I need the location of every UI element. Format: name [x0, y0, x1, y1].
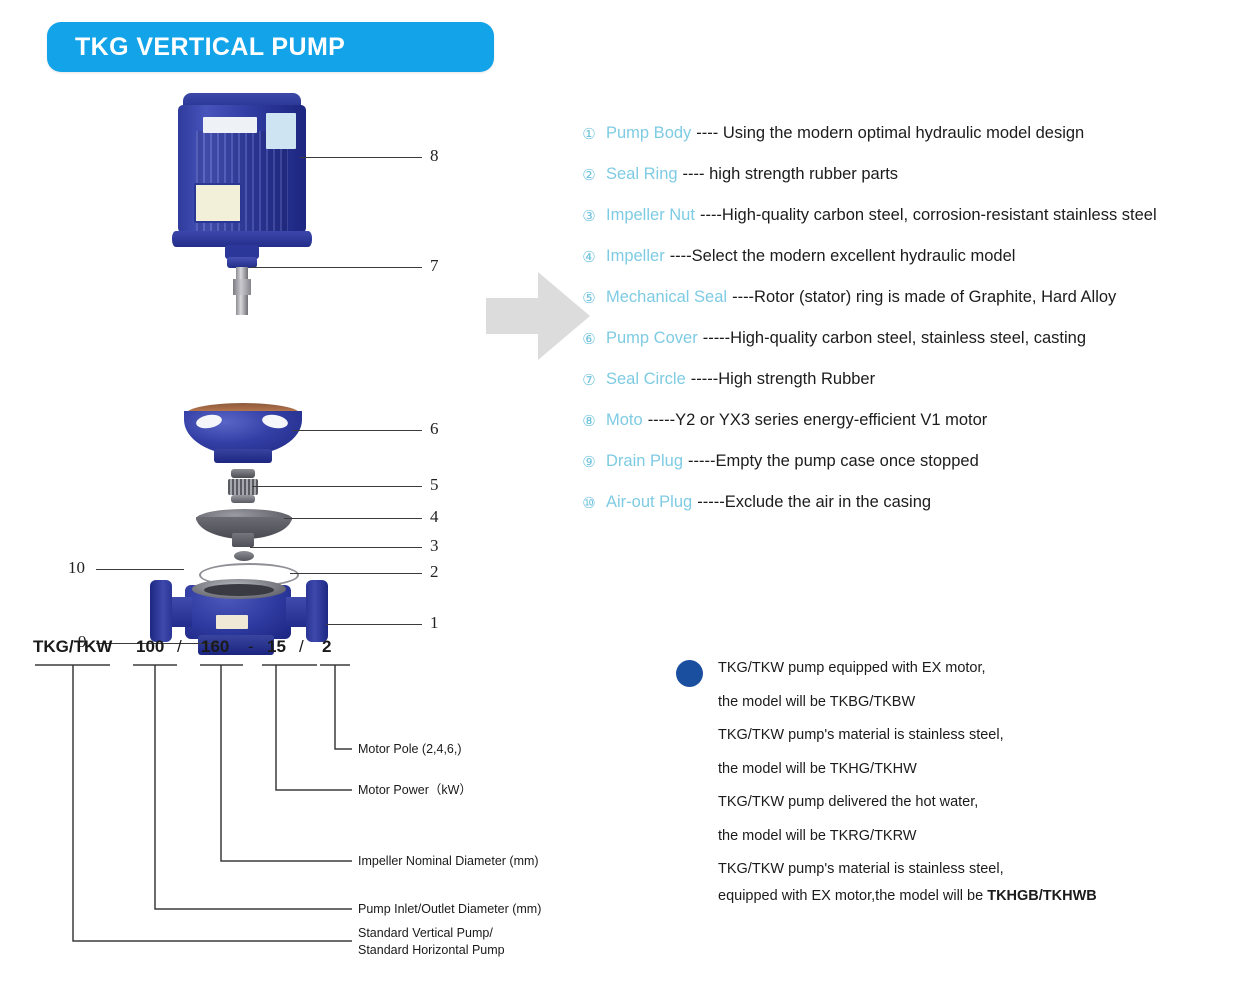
note-line-2: the model will be TKBG/TKBW: [718, 686, 1226, 720]
callout-number-7: 7: [430, 256, 439, 276]
legend-number-8: ⑧: [578, 411, 600, 433]
model-callout-motor-pole: Motor Pole (2,4,6,): [358, 741, 462, 757]
legend-item-air-out-plug: ⑩ Air-out Plug -----Exclude the air in t…: [578, 493, 1228, 534]
legend-part-7: Seal Circle: [606, 370, 686, 389]
legend-part-2: Seal Ring: [606, 165, 678, 184]
leader-line-6: [292, 430, 422, 431]
legend-number-9: ⑨: [578, 452, 600, 474]
legend-desc-5: ----Rotor (stator) ring is made of Graph…: [732, 288, 1116, 307]
pump-cover-foot-shape: [214, 449, 272, 463]
legend-number-4: ④: [578, 247, 600, 269]
arrow-right-icon: [486, 268, 590, 364]
leader-line-4: [284, 518, 422, 519]
flow-arrow: [486, 268, 590, 364]
legend-part-10: Air-out Plug: [606, 493, 692, 512]
model-callout-pump-type-line2: Standard Horizontal Pump: [358, 942, 505, 958]
legend-part-5: Mechanical Seal: [606, 288, 727, 307]
note-line-6: the model will be TKRG/TKRW: [718, 820, 1226, 854]
leader-line-10: [96, 569, 184, 570]
legend-part-4: Impeller: [606, 247, 665, 266]
leader-line-7: [250, 267, 422, 268]
note-line-4: the model will be TKHG/TKHW: [718, 753, 1226, 787]
legend-item-seal-circle: ⑦ Seal Circle -----High strength Rubber: [578, 370, 1228, 411]
legend-desc-2: ---- high strength rubber parts: [683, 165, 899, 184]
legend-number-3: ③: [578, 206, 600, 228]
motor-sticker-shape: [266, 113, 296, 149]
shaft-step-shape: [233, 279, 251, 295]
note-line-3: TKG/TKW pump's material is stainless ste…: [718, 719, 1226, 753]
legend-desc-7: -----High strength Rubber: [691, 370, 875, 389]
legend-item-drain-plug: ⑨ Drain Plug -----Empty the pump case on…: [578, 452, 1228, 493]
legend-desc-10: -----Exclude the air in the casing: [697, 493, 931, 512]
legend-number-6: ⑥: [578, 329, 600, 351]
note-line-5: TKG/TKW pump delivered the hot water,: [718, 786, 1226, 820]
leader-line-3: [250, 547, 422, 548]
impeller-nut-top-shape: [231, 469, 255, 478]
leader-line-2: [290, 573, 422, 574]
legend-item-impeller-nut: ③ Impeller Nut ----High-quality carbon s…: [578, 206, 1228, 247]
callout-number-3: 3: [430, 536, 439, 556]
legend-item-pump-body: ① Pump Body ---- Using the modern optima…: [578, 124, 1228, 165]
model-code-breakdown: TKG/TKW 100 / 160 - 15 / 2 Motor Pole (2…: [0, 625, 600, 955]
model-callout-motor-power: Motor Power（kW）: [358, 782, 472, 798]
impeller-nut-bottom-shape: [231, 495, 255, 503]
legend-part-9: Drain Plug: [606, 452, 683, 471]
parts-legend: ① Pump Body ---- Using the modern optima…: [578, 124, 1228, 534]
legend-number-5: ⑤: [578, 288, 600, 310]
legend-item-moto: ⑧ Moto -----Y2 or YX3 series energy-effi…: [578, 411, 1228, 452]
legend-item-pump-cover: ⑥ Pump Cover -----High-quality carbon st…: [578, 329, 1228, 370]
callout-number-2: 2: [430, 562, 439, 582]
legend-item-seal-ring: ② Seal Ring ---- high strength rubber pa…: [578, 165, 1228, 206]
legend-desc-8: -----Y2 or YX3 series energy-efficient V…: [648, 411, 988, 430]
legend-part-6: Pump Cover: [606, 329, 698, 348]
mechanical-seal-shape: [228, 479, 258, 495]
legend-item-impeller: ④ Impeller ----Select the modern excelle…: [578, 247, 1228, 288]
note-line-8: equipped with EX motor,the model will be…: [718, 883, 1226, 909]
note-line-8-model: TKHGB/TKHWB: [987, 888, 1097, 904]
model-callout-inlet-outlet-diameter: Pump Inlet/Outlet Diameter (mm): [358, 901, 541, 917]
model-callout-impeller-diameter: Impeller Nominal Diameter (mm): [358, 853, 539, 869]
casing-top-inner-shape: [204, 584, 274, 596]
page-title: TKG VERTICAL PUMP: [75, 33, 345, 62]
callout-number-8: 8: [430, 146, 439, 166]
exploded-pump-diagram: 8 7 6 5 4 3 2 1 10 9: [0, 85, 470, 605]
bullet-dot-icon: [676, 660, 703, 687]
callout-number-10: 10: [68, 558, 85, 578]
legend-desc-6: -----High-quality carbon steel, stainles…: [703, 329, 1086, 348]
legend-part-8: Moto: [606, 411, 643, 430]
legend-part-1: Pump Body: [606, 124, 691, 143]
terminal-box-shape: [194, 183, 242, 223]
legend-number-7: ⑦: [578, 370, 600, 392]
legend-desc-3: ----High-quality carbon steel, corrosion…: [700, 206, 1157, 225]
callout-number-4: 4: [430, 507, 439, 527]
legend-desc-4: ----Select the modern excellent hydrauli…: [670, 247, 1016, 266]
note-line-7: TKG/TKW pump's material is stainless ste…: [718, 853, 1226, 887]
model-variant-notes: TKG/TKW pump equipped with EX motor, the…: [676, 652, 1226, 909]
callout-number-6: 6: [430, 419, 439, 439]
leader-line-5: [252, 486, 422, 487]
legend-number-10: ⑩: [578, 493, 600, 515]
note-line-8-text: equipped with EX motor,the model will be: [718, 888, 987, 904]
callout-number-5: 5: [430, 475, 439, 495]
legend-desc-1: ---- Using the modern optimal hydraulic …: [696, 124, 1084, 143]
note-line-1: TKG/TKW pump equipped with EX motor,: [718, 652, 1226, 686]
legend-number-2: ②: [578, 165, 600, 187]
model-callout-pump-type-line1: Standard Vertical Pump/: [358, 925, 493, 941]
legend-number-1: ①: [578, 124, 600, 146]
leader-line-8: [300, 157, 422, 158]
legend-desc-9: -----Empty the pump case once stopped: [688, 452, 979, 471]
impeller-hub-shape: [232, 533, 254, 547]
title-banner: TKG VERTICAL PUMP: [47, 22, 494, 72]
legend-part-3: Impeller Nut: [606, 206, 695, 225]
washer-shape: [234, 551, 254, 561]
legend-item-mechanical-seal: ⑤ Mechanical Seal ----Rotor (stator) rin…: [578, 288, 1228, 329]
motor-nameplate-shape: [203, 117, 257, 133]
